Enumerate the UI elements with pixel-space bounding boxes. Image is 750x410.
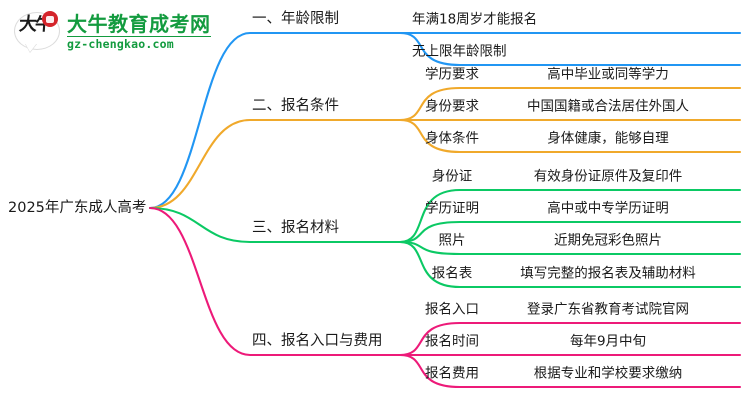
leaf-label-1-2[interactable]: 无上限年龄限制 — [412, 45, 507, 59]
branch-label-2[interactable]: 二、报名条件 — [252, 99, 339, 114]
leaf-label-1-1[interactable]: 年满18周岁才能报名 — [412, 13, 537, 27]
leaf-label-3-4[interactable]: 报名表 — [432, 267, 473, 281]
leaf-value-3-2[interactable]: 高中或中专学历证明 — [547, 202, 669, 216]
leaf-value-3-4[interactable]: 填写完整的报名表及辅助材料 — [520, 267, 696, 281]
leaf-label-3-2[interactable]: 学历证明 — [425, 202, 479, 216]
leaf-value-4-3[interactable]: 根据专业和学校要求缴纳 — [534, 367, 683, 381]
leaf-value-3-1[interactable]: 有效身份证原件及复印件 — [534, 170, 683, 184]
leaf-label-3-3[interactable]: 照片 — [439, 234, 466, 248]
leaf-value-3-3[interactable]: 近期免冠彩色照片 — [554, 234, 662, 248]
leaf-value-4-2[interactable]: 每年9月中旬 — [570, 335, 646, 349]
mindmap-canvas: 大牛 大牛教育成考网 gz-chengkao.com 2025年广东成人高考一、… — [0, 0, 750, 410]
leaf-value-4-1[interactable]: 登录广东省教育考试院官网 — [527, 303, 689, 317]
leaf-label-4-1[interactable]: 报名入口 — [425, 303, 479, 317]
leaf-label-4-3[interactable]: 报名费用 — [425, 367, 479, 381]
mindmap-root-label[interactable]: 2025年广东成人高考 — [8, 201, 146, 216]
branch-label-4[interactable]: 四、报名入口与费用 — [252, 334, 383, 349]
leaf-label-2-1[interactable]: 学历要求 — [425, 68, 479, 82]
branch-label-3[interactable]: 三、报名材料 — [252, 221, 339, 236]
leaf-label-4-2[interactable]: 报名时间 — [425, 335, 479, 349]
leaf-label-3-1[interactable]: 身份证 — [432, 170, 473, 184]
leaf-label-2-3[interactable]: 身体条件 — [425, 132, 479, 146]
leaf-value-2-1[interactable]: 高中毕业或同等学力 — [547, 68, 669, 82]
branch-label-1[interactable]: 一、年龄限制 — [252, 12, 339, 27]
leaf-label-2-2[interactable]: 身份要求 — [425, 100, 479, 114]
leaf-value-2-3[interactable]: 身体健康，能够自理 — [547, 132, 669, 146]
leaf-value-2-2[interactable]: 中国国籍或合法居住外国人 — [527, 100, 689, 114]
